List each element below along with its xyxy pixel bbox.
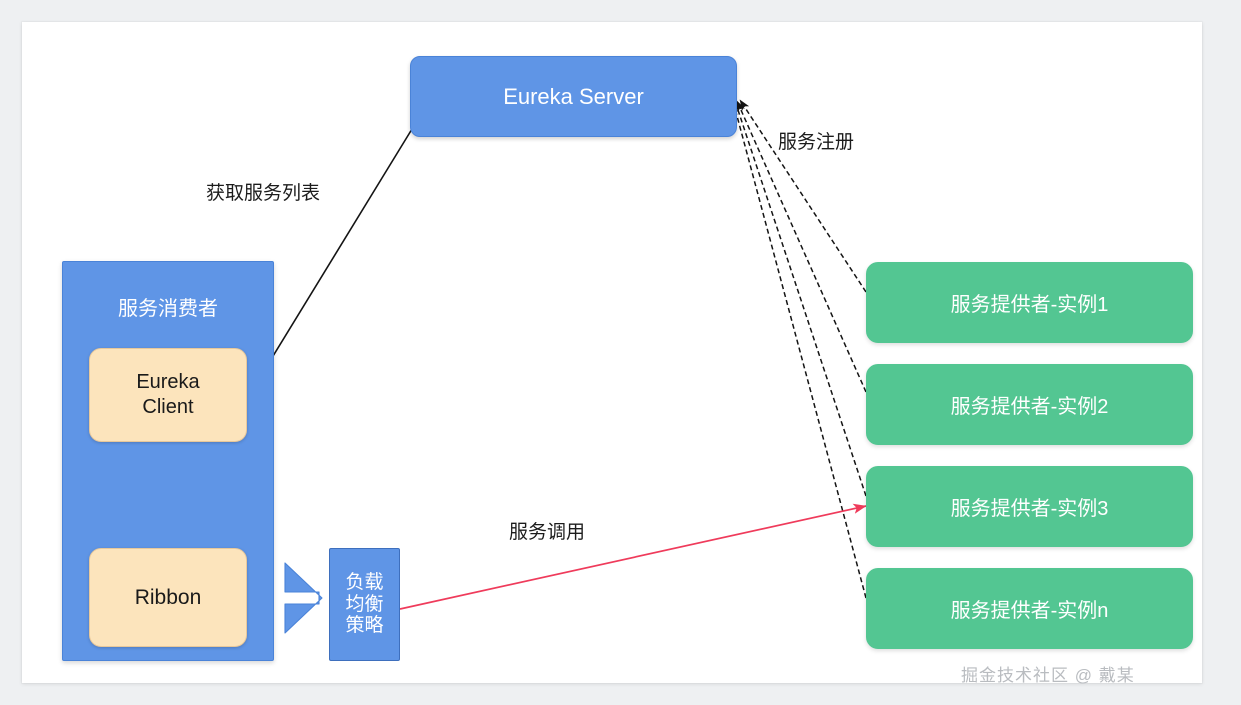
node-eureka-client[interactable]: Eureka Client — [89, 348, 247, 442]
node-eureka-server[interactable]: Eureka Server — [410, 56, 737, 137]
service-consumer-title: 服务消费者 — [63, 292, 273, 321]
edge-label-register: 服务注册 — [778, 127, 854, 154]
edge-label-fetch-registry: 获取服务列表 — [206, 178, 320, 205]
eureka-server-label: Eureka Server — [503, 84, 644, 110]
ribbon-label: Ribbon — [135, 586, 202, 610]
node-service-provider-2[interactable]: 服务提供者-实例2 — [866, 364, 1193, 445]
service-provider-2-label: 服务提供者-实例2 — [951, 390, 1109, 419]
eureka-client-label-line1: Eureka — [136, 370, 199, 395]
eureka-client-label-line2: Client — [142, 395, 193, 420]
service-provider-3-label: 服务提供者-实例3 — [951, 492, 1109, 521]
watermark: 掘金技术社区 @ 戴某 — [961, 661, 1135, 686]
service-provider-1-label: 服务提供者-实例1 — [951, 288, 1109, 317]
diagram-stage: Eureka Server 服务消费者 Eureka Client Ribbon… — [0, 0, 1241, 705]
service-provider-n-label: 服务提供者-实例n — [951, 594, 1109, 623]
node-ribbon[interactable]: Ribbon — [89, 548, 247, 647]
node-service-provider-1[interactable]: 服务提供者-实例1 — [866, 262, 1193, 343]
node-load-balance-strategy[interactable]: 负载 均衡 策略 — [329, 548, 400, 661]
node-service-provider-n[interactable]: 服务提供者-实例n — [866, 568, 1193, 649]
load-balance-line-2: 均衡 — [345, 594, 383, 616]
load-balance-line-3: 策略 — [345, 615, 383, 637]
edge-label-service-invoke: 服务调用 — [509, 517, 585, 544]
node-service-provider-3[interactable]: 服务提供者-实例3 — [866, 466, 1193, 547]
load-balance-line-1: 负载 — [345, 572, 383, 594]
